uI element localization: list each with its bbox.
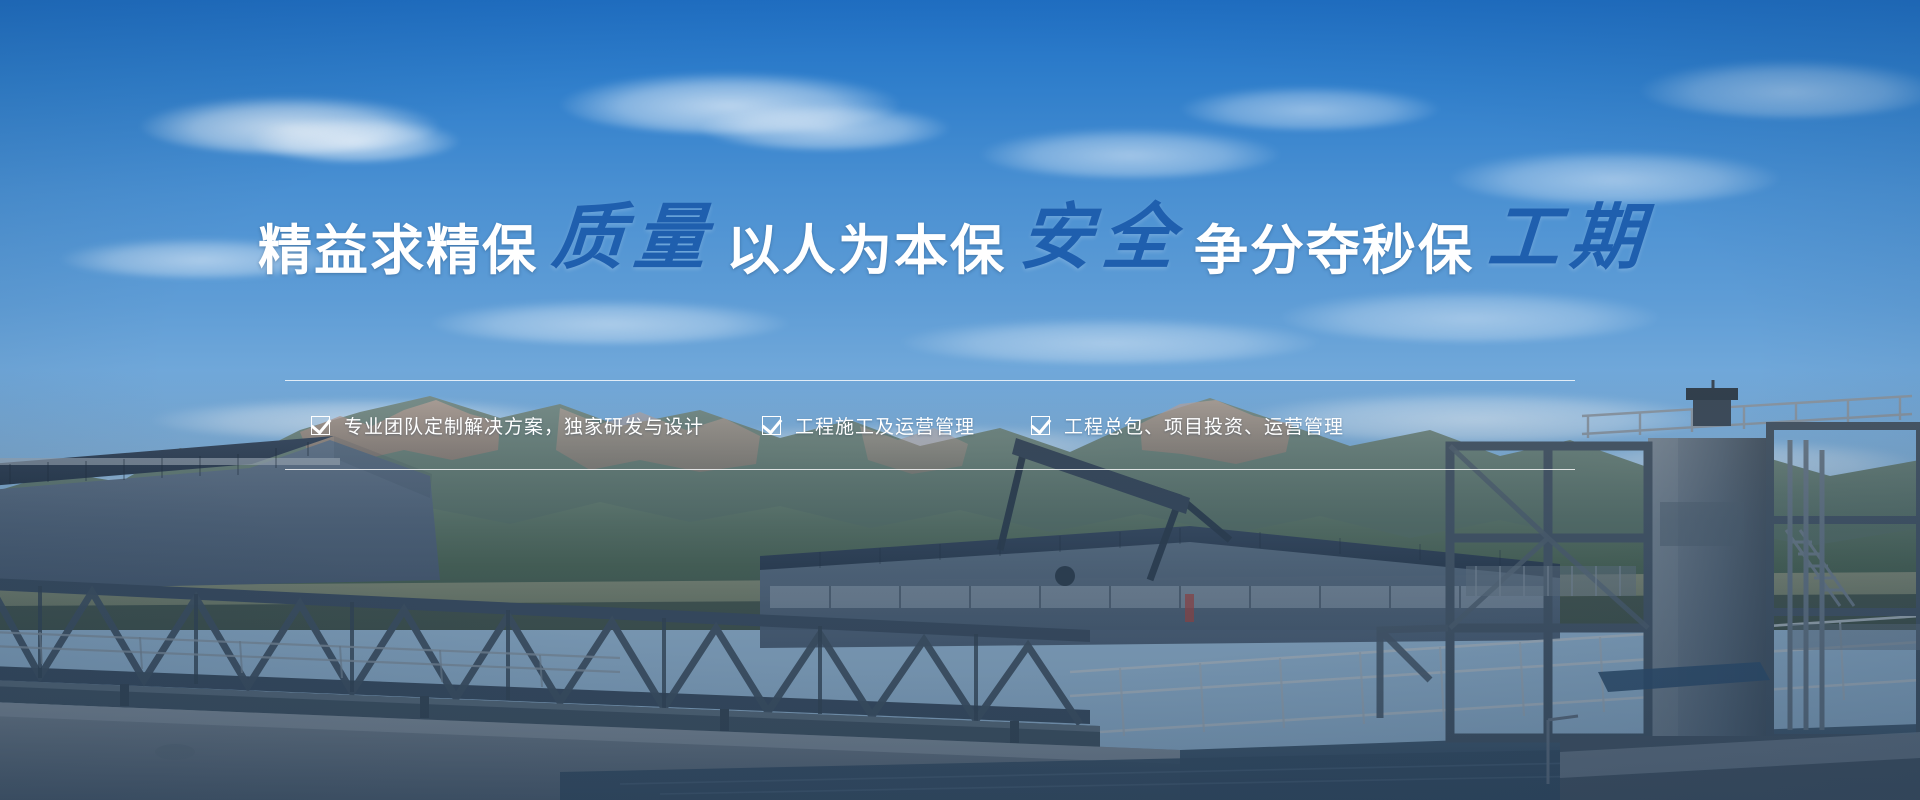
- checkbox-checked-icon: [311, 416, 330, 435]
- banner-text-overlay: 精益求精保 质量 以人为本保 安全 争分夺秒保 工期 专业团队定制解决方案，独家…: [0, 0, 1920, 800]
- headline-segment-schedule-prefix: 争分夺秒保: [1194, 224, 1474, 278]
- feature-strip: 专业团队定制解决方案，独家研发与设计 工程施工及运营管理 工程总包、项目投资、运…: [285, 380, 1575, 470]
- headline-segment-quality-prefix: 精益求精保: [258, 224, 538, 278]
- headline-segment-quality: 质量: [535, 202, 728, 274]
- headline: 精益求精保 质量 以人为本保 安全 争分夺秒保 工期: [0, 200, 1920, 272]
- feature-item-3-label: 工程总包、项目投资、运营管理: [1064, 412, 1344, 439]
- feature-item-2-label: 工程施工及运营管理: [795, 412, 975, 439]
- checkbox-checked-icon: [1031, 416, 1050, 435]
- headline-segment-safety-prefix: 以人为本保: [726, 224, 1006, 278]
- feature-item-1: 专业团队定制解决方案，独家研发与设计: [311, 412, 704, 439]
- feature-item-3: 工程总包、项目投资、运营管理: [1031, 412, 1344, 439]
- feature-item-2: 工程施工及运营管理: [762, 412, 975, 439]
- checkbox-checked-icon: [762, 416, 781, 435]
- headline-segment-safety: 安全: [1003, 202, 1196, 274]
- feature-item-1-label: 专业团队定制解决方案，独家研发与设计: [344, 412, 704, 439]
- hero-banner: 精益求精保 质量 以人为本保 安全 争分夺秒保 工期 专业团队定制解决方案，独家…: [0, 0, 1920, 800]
- headline-segment-schedule: 工期: [1471, 202, 1664, 274]
